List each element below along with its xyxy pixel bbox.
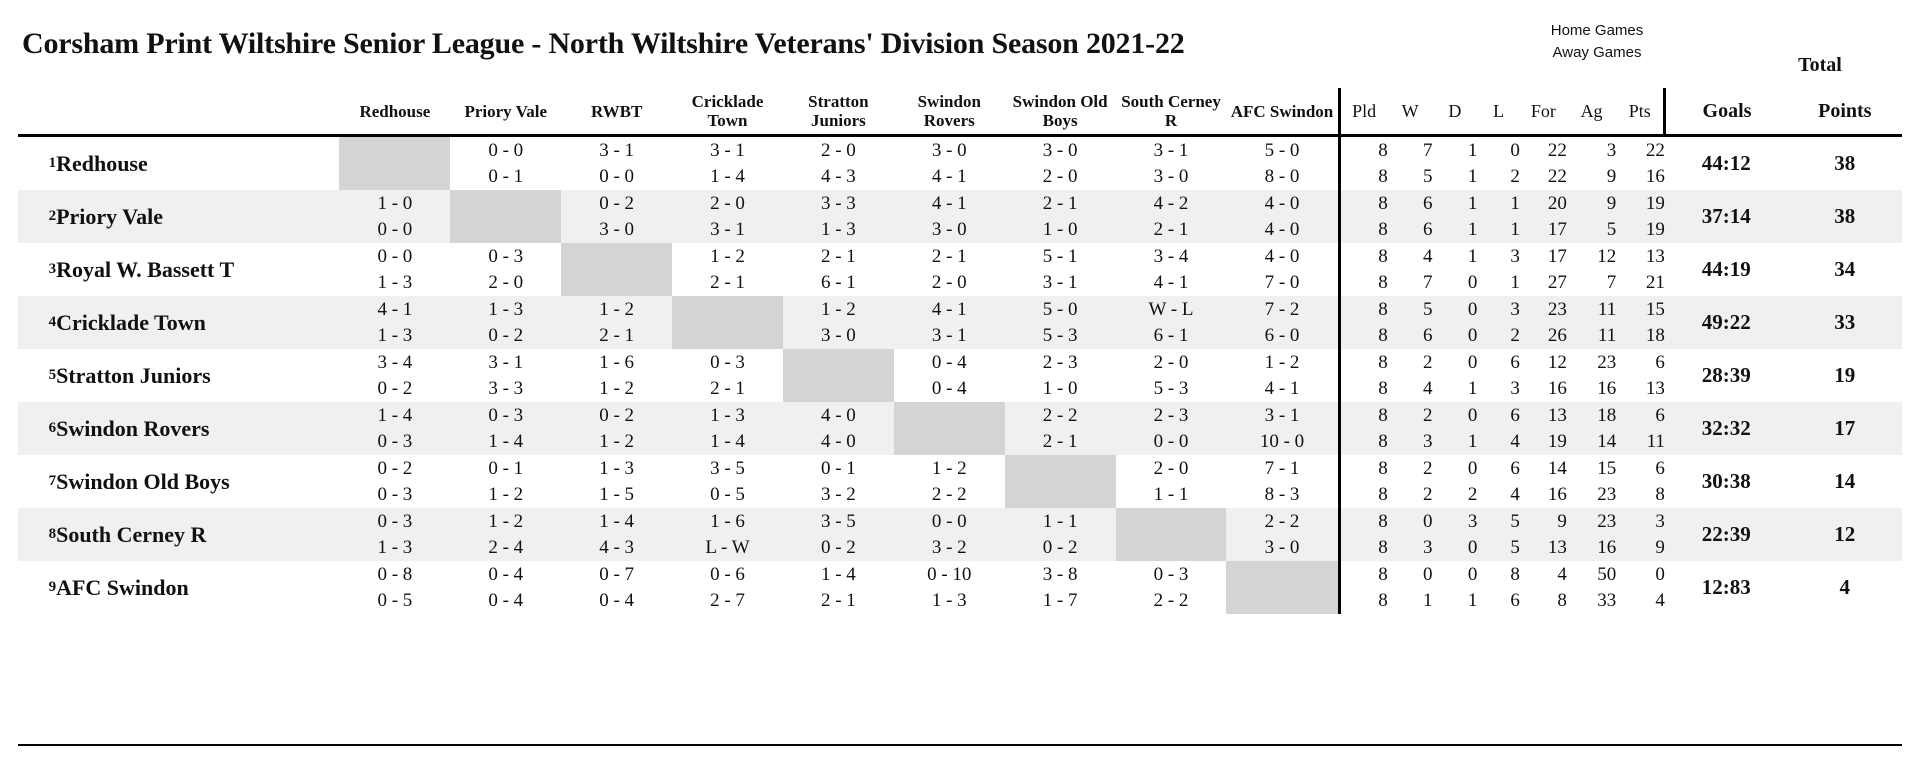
stat-cell-ag: 1111 bbox=[1567, 296, 1616, 349]
match-cell: 1 - 22 - 2 bbox=[894, 455, 1005, 508]
away-result: 3 - 1 bbox=[1005, 270, 1116, 296]
away-stat: 18 bbox=[1616, 323, 1665, 349]
home-stat: 8 bbox=[1351, 191, 1388, 217]
match-cell: 4 - 07 - 0 bbox=[1226, 243, 1339, 296]
stat-cell-l: 32 bbox=[1477, 296, 1520, 349]
away-stat: 6 bbox=[1388, 323, 1433, 349]
home-stat: 3 bbox=[1477, 244, 1520, 270]
row-team-name: Royal W. Bassett T bbox=[56, 243, 339, 296]
away-result: 1 - 3 bbox=[339, 270, 450, 296]
away-result: 3 - 3 bbox=[450, 376, 561, 402]
col-head-team bbox=[56, 88, 339, 136]
match-cell: 1 - 61 - 2 bbox=[561, 349, 672, 402]
match-cell: 3 - 81 - 7 bbox=[1005, 561, 1116, 614]
home-games-label: Home Games bbox=[1512, 20, 1682, 42]
match-cell: 0 - 32 - 0 bbox=[450, 243, 561, 296]
row-team-name: AFC Swindon bbox=[56, 561, 339, 614]
home-result: 3 - 8 bbox=[1005, 562, 1116, 588]
match-cell: 3 - 10 - 0 bbox=[561, 136, 672, 191]
away-stat: 2 bbox=[1477, 323, 1520, 349]
home-stat: 7 bbox=[1388, 138, 1433, 164]
away-result: 2 - 2 bbox=[1116, 588, 1227, 614]
away-result: 5 - 3 bbox=[1005, 323, 1116, 349]
match-cell: 2 - 22 - 1 bbox=[1005, 402, 1116, 455]
away-result: 4 - 1 bbox=[1116, 270, 1227, 296]
home-stat: 1 bbox=[1433, 138, 1478, 164]
col-head-opponent-9: AFC Swindon bbox=[1226, 88, 1339, 136]
away-stat: 16 bbox=[1567, 376, 1616, 402]
home-result: 2 - 3 bbox=[1005, 350, 1116, 376]
stat-cell-l: 86 bbox=[1477, 561, 1520, 614]
match-cell-self bbox=[561, 243, 672, 296]
away-stat: 16 bbox=[1520, 482, 1567, 508]
match-cell-self bbox=[1005, 455, 1116, 508]
table-bottom-rule bbox=[18, 744, 1902, 746]
home-stat: 17 bbox=[1520, 244, 1567, 270]
away-result: 8 - 0 bbox=[1226, 164, 1337, 190]
match-cell: 4 - 04 - 0 bbox=[783, 402, 894, 455]
match-cell: 2 - 31 - 0 bbox=[1005, 349, 1116, 402]
home-stat: 0 bbox=[1433, 297, 1478, 323]
home-result: 1 - 4 bbox=[339, 403, 450, 429]
away-stat: 1 bbox=[1433, 164, 1478, 190]
home-result: 3 - 5 bbox=[672, 456, 783, 482]
stat-cell-pts: 68 bbox=[1616, 455, 1665, 508]
home-result: 3 - 5 bbox=[783, 509, 894, 535]
away-result: 3 - 2 bbox=[783, 482, 894, 508]
away-result: 0 - 0 bbox=[1116, 429, 1227, 455]
home-stat: 8 bbox=[1351, 456, 1388, 482]
away-result bbox=[894, 429, 1005, 455]
match-cell: 0 - 03 - 2 bbox=[894, 508, 1005, 561]
home-result bbox=[1005, 456, 1116, 482]
total-points-cell: 12 bbox=[1788, 508, 1902, 561]
match-cell: 5 - 08 - 0 bbox=[1226, 136, 1339, 191]
match-cell: 2 - 16 - 1 bbox=[783, 243, 894, 296]
row-rank: 5 bbox=[18, 349, 56, 402]
table-row: 5Stratton Juniors3 - 40 - 23 - 13 - 31 -… bbox=[18, 349, 1902, 402]
home-result: 1 - 2 bbox=[561, 297, 672, 323]
home-result: 2 - 0 bbox=[783, 138, 894, 164]
match-cell: 2 - 23 - 0 bbox=[1226, 508, 1339, 561]
home-result: 0 - 0 bbox=[450, 138, 561, 164]
home-stat: 6 bbox=[1616, 456, 1665, 482]
home-stat: 3 bbox=[1616, 509, 1665, 535]
match-cell: 3 - 11 - 4 bbox=[672, 136, 783, 191]
match-cell: 0 - 40 - 4 bbox=[894, 349, 1005, 402]
stat-cell-pld: 88 bbox=[1339, 561, 1388, 614]
stat-cell-w: 75 bbox=[1388, 136, 1433, 191]
home-result: 1 - 1 bbox=[1005, 509, 1116, 535]
away-stat: 8 bbox=[1351, 482, 1388, 508]
home-result: 0 - 2 bbox=[561, 191, 672, 217]
away-stat: 8 bbox=[1351, 429, 1388, 455]
away-stat: 8 bbox=[1351, 535, 1388, 561]
stat-cell-d: 11 bbox=[1433, 190, 1478, 243]
stat-cell-for: 913 bbox=[1520, 508, 1567, 561]
stat-cell-pld: 88 bbox=[1339, 402, 1388, 455]
away-stat: 9 bbox=[1616, 535, 1665, 561]
match-cell-self bbox=[672, 296, 783, 349]
stat-cell-pld: 88 bbox=[1339, 243, 1388, 296]
away-result: 3 - 1 bbox=[672, 217, 783, 243]
match-cell: 2 - 01 - 1 bbox=[1116, 455, 1227, 508]
home-result: 0 - 4 bbox=[450, 562, 561, 588]
home-stat: 22 bbox=[1520, 138, 1567, 164]
home-stat: 5 bbox=[1477, 509, 1520, 535]
away-stat: 19 bbox=[1616, 217, 1665, 243]
away-result: 1 - 2 bbox=[561, 429, 672, 455]
home-result: 1 - 3 bbox=[450, 297, 561, 323]
stat-cell-ag: 95 bbox=[1567, 190, 1616, 243]
total-goals-cell: 44:12 bbox=[1665, 136, 1788, 191]
away-stat: 3 bbox=[1388, 429, 1433, 455]
away-result: 6 - 1 bbox=[1116, 323, 1227, 349]
match-cell: 0 - 62 - 7 bbox=[672, 561, 783, 614]
away-result: 2 - 1 bbox=[783, 588, 894, 614]
home-result bbox=[672, 297, 783, 323]
match-cell: 0 - 31 - 4 bbox=[450, 402, 561, 455]
away-result bbox=[783, 376, 894, 402]
stat-cell-for: 1416 bbox=[1520, 455, 1567, 508]
away-result: 1 - 3 bbox=[339, 535, 450, 561]
col-head-goals: Goals bbox=[1665, 88, 1788, 136]
away-result: 0 - 1 bbox=[450, 164, 561, 190]
away-stat: 4 bbox=[1477, 482, 1520, 508]
home-result: 3 - 0 bbox=[1005, 138, 1116, 164]
home-stat: 1 bbox=[1433, 244, 1478, 270]
away-result: 4 - 0 bbox=[1226, 217, 1337, 243]
match-cell: 3 - 13 - 3 bbox=[450, 349, 561, 402]
home-stat: 14 bbox=[1520, 456, 1567, 482]
home-result: 1 - 3 bbox=[672, 403, 783, 429]
stat-cell-d: 02 bbox=[1433, 455, 1478, 508]
away-stat: 0 bbox=[1433, 270, 1478, 296]
away-stat: 1 bbox=[1433, 376, 1478, 402]
match-cell: 4 - 22 - 1 bbox=[1116, 190, 1227, 243]
home-stat: 6 bbox=[1477, 403, 1520, 429]
away-result: 2 - 1 bbox=[561, 323, 672, 349]
home-stat: 6 bbox=[1616, 350, 1665, 376]
home-stat: 1 bbox=[1433, 191, 1478, 217]
home-result: 5 - 1 bbox=[1005, 244, 1116, 270]
stat-cell-w: 56 bbox=[1388, 296, 1433, 349]
away-stat: 8 bbox=[1616, 482, 1665, 508]
row-team-name: South Cerney R bbox=[56, 508, 339, 561]
away-result: 0 - 3 bbox=[339, 482, 450, 508]
away-stat: 8 bbox=[1351, 323, 1388, 349]
away-stat: 5 bbox=[1388, 164, 1433, 190]
table-body: 1Redhouse0 - 00 - 13 - 10 - 03 - 11 - 42… bbox=[18, 136, 1902, 615]
away-result: 3 - 0 bbox=[894, 217, 1005, 243]
away-result: 1 - 3 bbox=[339, 323, 450, 349]
home-result: 0 - 6 bbox=[672, 562, 783, 588]
match-cell: 1 - 22 - 4 bbox=[450, 508, 561, 561]
away-stat: 5 bbox=[1477, 535, 1520, 561]
home-stat: 0 bbox=[1433, 350, 1478, 376]
away-result: 10 - 0 bbox=[1226, 429, 1337, 455]
away-result bbox=[1005, 482, 1116, 508]
row-team-name: Redhouse bbox=[56, 136, 339, 191]
total-points-cell: 34 bbox=[1788, 243, 1902, 296]
away-result: 3 - 0 bbox=[1226, 535, 1337, 561]
home-result: 3 - 1 bbox=[561, 138, 672, 164]
home-stat: 15 bbox=[1616, 297, 1665, 323]
stat-cell-d: 11 bbox=[1433, 136, 1478, 191]
stat-cell-pld: 88 bbox=[1339, 455, 1388, 508]
home-stat: 2 bbox=[1388, 456, 1433, 482]
stat-cell-ag: 2316 bbox=[1567, 349, 1616, 402]
stat-cell-for: 2017 bbox=[1520, 190, 1567, 243]
stat-cell-l: 63 bbox=[1477, 349, 1520, 402]
away-result: 6 - 0 bbox=[1226, 323, 1337, 349]
match-cell: 7 - 26 - 0 bbox=[1226, 296, 1339, 349]
home-stat: 0 bbox=[1433, 403, 1478, 429]
match-cell: 5 - 13 - 1 bbox=[1005, 243, 1116, 296]
home-stat: 0 bbox=[1388, 509, 1433, 535]
total-goals-cell: 28:39 bbox=[1665, 349, 1788, 402]
match-cell: 2 - 05 - 3 bbox=[1116, 349, 1227, 402]
away-result: 2 - 7 bbox=[672, 588, 783, 614]
home-result bbox=[339, 138, 450, 164]
stat-cell-w: 22 bbox=[1388, 455, 1433, 508]
away-result: 0 - 2 bbox=[783, 535, 894, 561]
home-result: 4 - 2 bbox=[1116, 191, 1227, 217]
match-cell: 1 - 40 - 3 bbox=[339, 402, 450, 455]
away-stat: 14 bbox=[1567, 429, 1616, 455]
col-head-opponent-1: Redhouse bbox=[339, 88, 450, 136]
home-stat: 0 bbox=[1433, 456, 1478, 482]
home-stat: 8 bbox=[1351, 244, 1388, 270]
home-stat: 3 bbox=[1567, 138, 1616, 164]
away-result: 0 - 2 bbox=[339, 376, 450, 402]
total-points-cell: 33 bbox=[1788, 296, 1902, 349]
header-row: Corsham Print Wiltshire Senior League - … bbox=[0, 22, 1920, 70]
match-cell: 1 - 42 - 1 bbox=[783, 561, 894, 614]
stat-cell-w: 66 bbox=[1388, 190, 1433, 243]
col-head-pts: Pts bbox=[1616, 88, 1665, 136]
home-result: 1 - 4 bbox=[783, 562, 894, 588]
col-head-for: For bbox=[1520, 88, 1567, 136]
home-stat: 4 bbox=[1388, 244, 1433, 270]
total-goals-cell: 37:14 bbox=[1665, 190, 1788, 243]
away-result: 1 - 4 bbox=[450, 429, 561, 455]
away-result: 7 - 0 bbox=[1226, 270, 1337, 296]
away-stat: 21 bbox=[1616, 270, 1665, 296]
away-stat: 22 bbox=[1520, 164, 1567, 190]
away-stat: 8 bbox=[1351, 164, 1388, 190]
away-stat: 1 bbox=[1433, 588, 1478, 614]
home-result: 2 - 3 bbox=[1116, 403, 1227, 429]
stat-cell-ag: 127 bbox=[1567, 243, 1616, 296]
match-cell-self bbox=[894, 402, 1005, 455]
away-result bbox=[450, 217, 561, 243]
home-result: 1 - 4 bbox=[561, 509, 672, 535]
home-result bbox=[450, 191, 561, 217]
col-head-l: L bbox=[1477, 88, 1520, 136]
away-result: 0 - 0 bbox=[561, 164, 672, 190]
home-stat: 8 bbox=[1351, 350, 1388, 376]
home-stat: 6 bbox=[1388, 191, 1433, 217]
stat-cell-for: 2222 bbox=[1520, 136, 1567, 191]
match-cell: 1 - 24 - 1 bbox=[1226, 349, 1339, 402]
home-stat: 8 bbox=[1477, 562, 1520, 588]
stat-cell-l: 31 bbox=[1477, 243, 1520, 296]
home-result: 2 - 1 bbox=[783, 244, 894, 270]
away-stat: 5 bbox=[1567, 217, 1616, 243]
row-team-name: Priory Vale bbox=[56, 190, 339, 243]
match-cell: 1 - 22 - 1 bbox=[672, 243, 783, 296]
home-result: 0 - 3 bbox=[450, 244, 561, 270]
match-cell: 0 - 32 - 1 bbox=[672, 349, 783, 402]
home-stat: 22 bbox=[1616, 138, 1665, 164]
away-stat: 1 bbox=[1477, 270, 1520, 296]
match-cell: 0 - 01 - 3 bbox=[339, 243, 450, 296]
home-result bbox=[1226, 562, 1337, 588]
away-stat: 8 bbox=[1351, 588, 1388, 614]
away-result: 3 - 0 bbox=[561, 217, 672, 243]
match-cell: 3 - 31 - 3 bbox=[783, 190, 894, 243]
table-row: 2Priory Vale1 - 00 - 00 - 23 - 02 - 03 -… bbox=[18, 190, 1902, 243]
home-result: 4 - 1 bbox=[339, 297, 450, 323]
away-stat: 6 bbox=[1477, 588, 1520, 614]
away-stat: 17 bbox=[1520, 217, 1567, 243]
home-stat: 2 bbox=[1388, 350, 1433, 376]
home-stat: 23 bbox=[1520, 297, 1567, 323]
stat-cell-pld: 88 bbox=[1339, 508, 1388, 561]
row-team-name: Stratton Juniors bbox=[56, 349, 339, 402]
col-head-d: D bbox=[1433, 88, 1478, 136]
home-stat: 5 bbox=[1388, 297, 1433, 323]
home-stat: 8 bbox=[1351, 403, 1388, 429]
home-result: 3 - 4 bbox=[339, 350, 450, 376]
away-result: 1 - 4 bbox=[672, 429, 783, 455]
col-head-opponent-6: Swindon Rovers bbox=[894, 88, 1005, 136]
match-cell: 3 - 13 - 0 bbox=[1116, 136, 1227, 191]
match-cell: 0 - 101 - 3 bbox=[894, 561, 1005, 614]
home-result: 2 - 1 bbox=[1005, 191, 1116, 217]
total-label: Total bbox=[1760, 54, 1880, 77]
away-result: 5 - 3 bbox=[1116, 376, 1227, 402]
total-points-cell: 14 bbox=[1788, 455, 1902, 508]
home-stat: 0 bbox=[1388, 562, 1433, 588]
away-stat: 4 bbox=[1388, 376, 1433, 402]
match-cell: 3 - 04 - 1 bbox=[894, 136, 1005, 191]
table-row: 9AFC Swindon0 - 80 - 50 - 40 - 40 - 70 -… bbox=[18, 561, 1902, 614]
away-stat: 3 bbox=[1388, 535, 1433, 561]
match-cell: 0 - 40 - 4 bbox=[450, 561, 561, 614]
away-result: 3 - 0 bbox=[1116, 164, 1227, 190]
home-stat: 6 bbox=[1616, 403, 1665, 429]
home-result: 3 - 1 bbox=[672, 138, 783, 164]
stat-cell-w: 03 bbox=[1388, 508, 1433, 561]
home-result: 0 - 10 bbox=[894, 562, 1005, 588]
match-cell: 2 - 30 - 0 bbox=[1116, 402, 1227, 455]
away-stat: 4 bbox=[1616, 588, 1665, 614]
home-stat: 23 bbox=[1567, 350, 1616, 376]
home-result: 1 - 0 bbox=[339, 191, 450, 217]
home-result: 0 - 8 bbox=[339, 562, 450, 588]
away-result: 0 - 4 bbox=[450, 588, 561, 614]
match-cell: 4 - 13 - 0 bbox=[894, 190, 1005, 243]
home-result: 1 - 6 bbox=[672, 509, 783, 535]
home-result: 2 - 0 bbox=[1116, 456, 1227, 482]
match-cell: 3 - 02 - 0 bbox=[1005, 136, 1116, 191]
away-result: 2 - 1 bbox=[1005, 429, 1116, 455]
home-result: 4 - 0 bbox=[1226, 244, 1337, 270]
stat-cell-d: 30 bbox=[1433, 508, 1478, 561]
page-title: Corsham Print Wiltshire Senior League - … bbox=[22, 22, 1185, 66]
row-rank: 4 bbox=[18, 296, 56, 349]
away-stat: 1 bbox=[1388, 588, 1433, 614]
away-stat: 33 bbox=[1567, 588, 1616, 614]
home-stat: 13 bbox=[1616, 244, 1665, 270]
match-cell: 4 - 13 - 1 bbox=[894, 296, 1005, 349]
away-stat: 3 bbox=[1477, 376, 1520, 402]
home-stat: 19 bbox=[1616, 191, 1665, 217]
match-cell: 0 - 32 - 2 bbox=[1116, 561, 1227, 614]
home-result: 2 - 2 bbox=[1226, 509, 1337, 535]
stat-cell-pts: 39 bbox=[1616, 508, 1665, 561]
stat-cell-pld: 88 bbox=[1339, 136, 1388, 191]
home-result: 3 - 0 bbox=[894, 138, 1005, 164]
total-goals-cell: 44:19 bbox=[1665, 243, 1788, 296]
away-result: 0 - 4 bbox=[561, 588, 672, 614]
stat-cell-ag: 2316 bbox=[1567, 508, 1616, 561]
row-rank: 9 bbox=[18, 561, 56, 614]
match-cell-self bbox=[1226, 561, 1339, 614]
stat-cell-l: 64 bbox=[1477, 402, 1520, 455]
stat-cell-l: 11 bbox=[1477, 190, 1520, 243]
match-cell: 2 - 04 - 3 bbox=[783, 136, 894, 191]
away-result: 1 - 2 bbox=[561, 376, 672, 402]
total-points-cell: 17 bbox=[1788, 402, 1902, 455]
total-points-cell: 38 bbox=[1788, 190, 1902, 243]
col-head-opponent-4: Cricklade Town bbox=[672, 88, 783, 136]
total-goals-cell: 32:32 bbox=[1665, 402, 1788, 455]
home-result: 2 - 0 bbox=[672, 191, 783, 217]
match-cell: 3 - 110 - 0 bbox=[1226, 402, 1339, 455]
away-stat: 11 bbox=[1567, 323, 1616, 349]
away-result: 2 - 1 bbox=[1116, 217, 1227, 243]
total-goals-cell: 49:22 bbox=[1665, 296, 1788, 349]
home-result: 0 - 3 bbox=[339, 509, 450, 535]
away-stat: 0 bbox=[1433, 535, 1478, 561]
home-result: 7 - 2 bbox=[1226, 297, 1337, 323]
away-result: 1 - 4 bbox=[672, 164, 783, 190]
home-result: 0 - 4 bbox=[894, 350, 1005, 376]
away-stat: 2 bbox=[1433, 482, 1478, 508]
away-stat: 8 bbox=[1520, 588, 1567, 614]
away-stat: 8 bbox=[1351, 376, 1388, 402]
row-rank: 6 bbox=[18, 402, 56, 455]
home-result bbox=[894, 403, 1005, 429]
stat-cell-pts: 04 bbox=[1616, 561, 1665, 614]
home-result: 1 - 2 bbox=[894, 456, 1005, 482]
away-result: 4 - 3 bbox=[783, 164, 894, 190]
away-result: 0 - 5 bbox=[672, 482, 783, 508]
away-result: 4 - 1 bbox=[894, 164, 1005, 190]
away-stat: 2 bbox=[1477, 164, 1520, 190]
total-goals-cell: 22:39 bbox=[1665, 508, 1788, 561]
match-cell: 0 - 80 - 5 bbox=[339, 561, 450, 614]
home-result: 4 - 0 bbox=[1226, 191, 1337, 217]
away-stat: 9 bbox=[1567, 164, 1616, 190]
match-cell-self bbox=[450, 190, 561, 243]
away-stat: 26 bbox=[1520, 323, 1567, 349]
stat-cell-pts: 1919 bbox=[1616, 190, 1665, 243]
away-stat: 7 bbox=[1388, 270, 1433, 296]
